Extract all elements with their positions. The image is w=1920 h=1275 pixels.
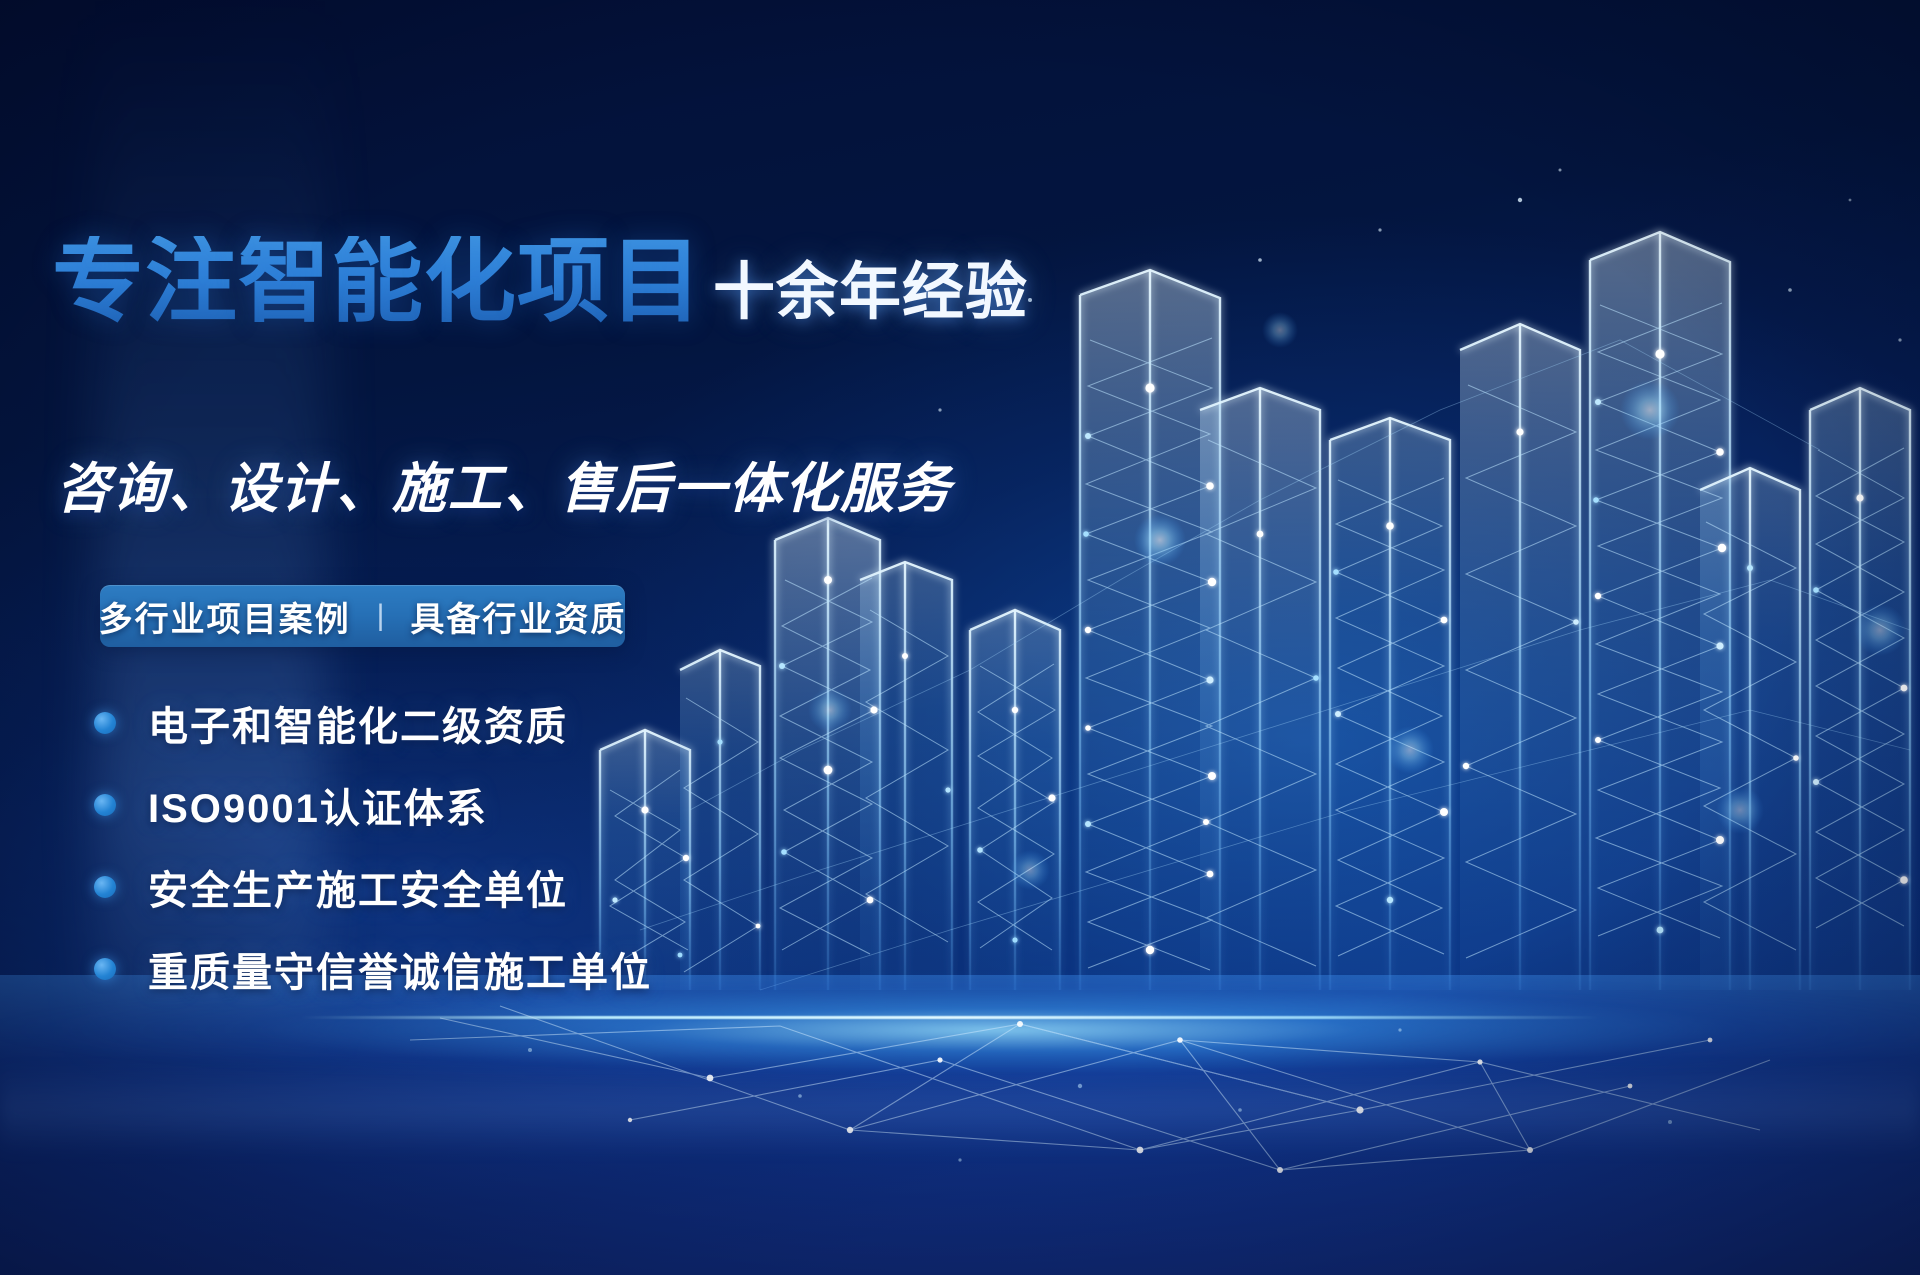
headline-secondary: 十余年经验 — [713, 262, 1028, 324]
hero-banner: 专注智能化项目 十余年经验 咨询、设计、施工、售后一体化服务 多行业项目案例 |… — [0, 0, 1920, 1275]
list-item: 安全生产施工安全单位 — [94, 864, 652, 910]
subtitle: 咨询、设计、施工、售后一体化服务 — [56, 444, 952, 523]
bullet-dot-icon — [94, 958, 116, 980]
list-item-label: 重质量守信誉诚信施工单位 — [148, 940, 652, 998]
list-item-label: ISO9001认证体系 — [148, 776, 488, 834]
hero-content: 专注智能化项目 十余年经验 咨询、设计、施工、售后一体化服务 多行业项目案例 |… — [52, 0, 1052, 1275]
badge-label-left: 多行业项目案例 — [99, 592, 351, 641]
qualification-badge[interactable]: 多行业项目案例 | 具备行业资质 — [100, 585, 625, 647]
bullet-dot-icon — [94, 794, 116, 816]
list-item-label: 安全生产施工安全单位 — [148, 858, 568, 916]
headline: 专注智能化项目 十余年经验 — [52, 236, 1028, 328]
badge-separator: | — [377, 599, 385, 633]
list-item-label: 电子和智能化二级资质 — [148, 694, 568, 752]
list-item: ISO9001认证体系 — [94, 782, 652, 828]
headline-primary: 专注智能化项目 — [52, 236, 703, 328]
qualification-list: 电子和智能化二级资质 ISO9001认证体系 安全生产施工安全单位 重质量守信誉… — [94, 700, 652, 992]
bullet-dot-icon — [94, 876, 116, 898]
list-item: 重质量守信誉诚信施工单位 — [94, 946, 652, 992]
bullet-dot-icon — [94, 712, 116, 734]
list-item: 电子和智能化二级资质 — [94, 700, 652, 746]
badge-label-right: 具备行业资质 — [410, 592, 626, 641]
